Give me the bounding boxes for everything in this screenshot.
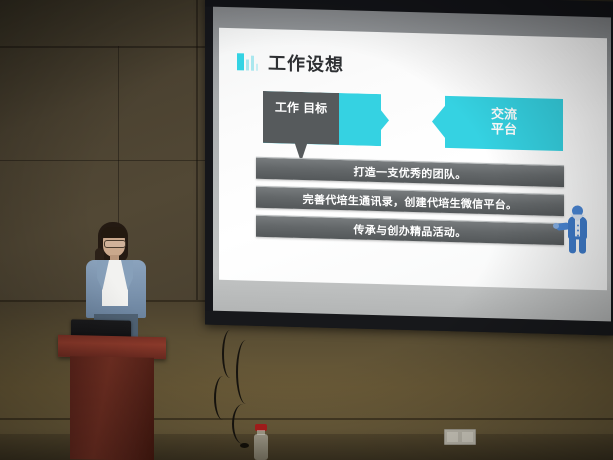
businessman-presenting-icon [561,205,591,254]
wall-outlet [444,429,476,445]
slide-title-row: 工作设想 [237,48,344,77]
floor-cable [232,404,254,444]
bottle-body [254,434,268,460]
diagram-center-label-1: 工作 [275,100,299,115]
diagram-center-box: 工作 目标 [263,91,339,163]
outlet-socket [447,432,458,442]
diagram-left-arrow-icon [376,104,389,136]
wall-seam [196,0,198,310]
glasses-icon [104,240,126,248]
floor-cable [214,376,232,420]
outlet-socket [462,432,473,442]
water-bottle [253,424,269,460]
bullet-bar-list: 打造一支优秀的团队。 完善代培生通讯录，创建代培生微信平台。 传承与创办精品活动… [256,157,564,252]
lecture-hall-scene: 工作设想 “家” 交流 平台 工作 目标 打造一支优秀的团队 [0,0,613,460]
projected-slide: 工作设想 “家” 交流 平台 工作 目标 打造一支优秀的团队 [219,28,607,290]
diagram-center-label-2: 目标 [303,101,327,116]
wall-seam [0,46,215,48]
diagram-right-box: 交流 平台 [445,96,563,151]
diagram-right-label-2: 平台 [491,123,517,139]
wall-seam [0,160,215,161]
page-title: 工作设想 [268,49,344,77]
goal-diagram: “家” 交流 平台 工作 目标 [263,91,563,151]
hair-fringe [101,227,127,238]
list-item: 传承与创办精品活动。 [256,215,564,245]
podium [58,336,166,460]
bar-chart-icon [237,53,259,71]
podium-body [70,356,154,460]
diagram-right-arrow-icon [432,106,445,138]
list-item: 打造一支优秀的团队。 [256,157,564,187]
list-item: 完善代培生通讯录，创建代培生微信平台。 [256,186,564,216]
floor-cable [236,340,256,404]
